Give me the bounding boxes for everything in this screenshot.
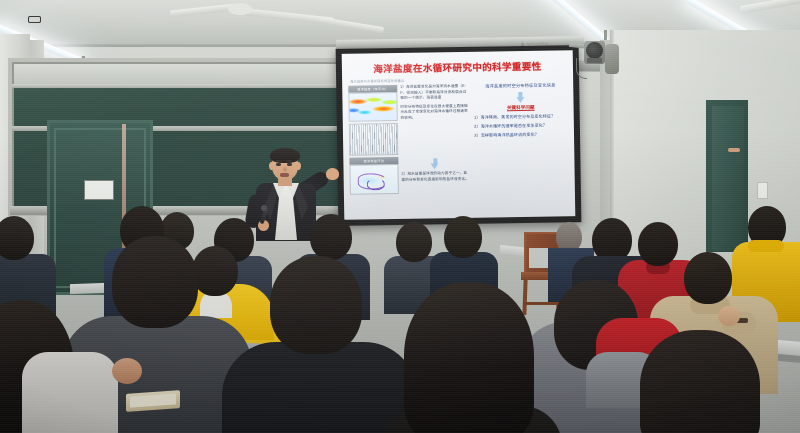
microphone-head-icon bbox=[261, 205, 267, 211]
camera-lens-icon bbox=[586, 42, 603, 59]
time-series-figure bbox=[349, 123, 398, 156]
grey-sleeve bbox=[22, 352, 118, 433]
key-questions-heading: 关键科学问题 bbox=[474, 104, 568, 111]
person-head bbox=[192, 246, 238, 296]
key-question-item: 2）海洋水循环的速率是否在发生变化？ bbox=[474, 122, 568, 130]
person-head bbox=[112, 236, 198, 328]
slide-text-block-two: 2）海水盐度是洋流的动力因子之一，盐度的分布和变化直接影响热盐环流变化。 bbox=[401, 156, 469, 196]
presenter-eye bbox=[287, 163, 292, 166]
arrow-down-icon bbox=[516, 92, 525, 103]
slide-title: 海洋盐度在水循环研究中的科学重要性 bbox=[348, 58, 567, 75]
person-head bbox=[638, 222, 678, 266]
presenter-ear bbox=[269, 162, 274, 170]
down-arrow-wrapper bbox=[474, 91, 568, 103]
door-recess bbox=[712, 106, 744, 250]
key-question-item: 3）怎样影响海洋热盐环流的变化？ bbox=[474, 131, 568, 139]
presenter-eyebrow bbox=[286, 160, 292, 162]
person-head bbox=[270, 256, 362, 354]
person-head bbox=[0, 216, 34, 260]
thermohaline-map-figure bbox=[349, 164, 398, 195]
door-handle[interactable] bbox=[728, 148, 740, 152]
person-hand bbox=[718, 306, 740, 326]
scarf bbox=[748, 240, 784, 252]
key-question-item: 1）海洋降雨、蒸发的时空分布及变化特征？ bbox=[474, 113, 568, 121]
light-switch[interactable] bbox=[757, 182, 768, 199]
presenter-eye bbox=[276, 163, 281, 166]
slide-paragraph: 2）海水盐度是洋流的动力因子之一，盐度的分布和变化直接影响热盐环流变化。 bbox=[401, 171, 469, 183]
figure-block-one: 海洋盐度（年平均） bbox=[348, 85, 398, 158]
classroom-photo: MITSUBISHI 海洋盐度在水循环研究中的科学重要性 海水盐度与水循环研究的… bbox=[0, 0, 800, 433]
person-head bbox=[444, 216, 482, 258]
camera-label bbox=[587, 58, 602, 63]
door-sign bbox=[84, 180, 114, 200]
presenter-nose bbox=[283, 167, 287, 172]
slide-row-two: 海洋热盐环流 2）海水盐度是洋流的动力因子之一，盐度的分布和变化直接影响热盐环流… bbox=[349, 156, 469, 197]
salinity-map-figure bbox=[348, 92, 397, 122]
glasses-icon bbox=[28, 16, 41, 23]
slide-row-one: 海洋盐度（年平均） 1）海洋盐度变化是对海洋流水通量（E-P、径流输入）平衡和海… bbox=[348, 84, 468, 158]
slide-right-column: 海洋盐度的时空分布特征及变化信息 关键科学问题 1）海洋降雨、蒸发的时空分布及变… bbox=[471, 82, 569, 215]
person-head bbox=[396, 222, 432, 262]
ceiling-fan-hub bbox=[228, 3, 252, 15]
presenter-mouth bbox=[280, 173, 289, 177]
presentation-slide: 海洋盐度在水循环研究中的科学重要性 海水盐度与水循环研究的变化和意义 海洋盐度（… bbox=[342, 50, 576, 220]
projection-screen: 海洋盐度在水循环研究中的科学重要性 海水盐度与水循环研究的变化和意义 海洋盐度（… bbox=[342, 50, 576, 220]
person-long-hair bbox=[404, 282, 534, 433]
down-arrow-wrapper bbox=[401, 158, 469, 170]
slide-left-column: 海洋盐度（年平均） 1）海洋盐度变化是对海洋流水通量（E-P、径流输入）平衡和海… bbox=[348, 84, 469, 218]
figure-block-two: 海洋热盐环流 bbox=[349, 157, 398, 197]
wall-speaker bbox=[605, 44, 619, 74]
person-hand bbox=[112, 358, 142, 384]
slide-right-header: 海洋盐度的时空分布特征及变化信息 bbox=[473, 82, 567, 90]
person-head bbox=[684, 252, 732, 304]
slide-paragraph: 1）海洋盐度变化是对海洋流水通量（E-P、径流输入）平衡和海洋对流和混合过程的一… bbox=[400, 84, 468, 102]
blackboard-upper-panel bbox=[14, 64, 352, 84]
arrow-down-icon bbox=[430, 158, 439, 169]
presenter-eyebrow bbox=[275, 160, 281, 162]
slide-paragraph: 时空分布特征及变化在很大程度上直接指示反应了全球变化对海洋水循环过程速率的影响。 bbox=[400, 104, 468, 122]
presenter-ear bbox=[296, 162, 301, 170]
person-head bbox=[310, 214, 352, 260]
chair-rung bbox=[523, 302, 561, 305]
current-path-icon bbox=[367, 179, 385, 191]
blackboard-rail bbox=[12, 84, 354, 88]
person-long-hair bbox=[640, 330, 760, 433]
slide-text-block-one: 1）海洋盐度变化是对海洋流水通量（E-P、径流输入）平衡和海洋对流和混合过程的一… bbox=[400, 84, 469, 157]
slide-body: 海洋盐度（年平均） 1）海洋盐度变化是对海洋流水通量（E-P、径流输入）平衡和海… bbox=[348, 82, 569, 217]
presenter-raised-hand bbox=[326, 168, 339, 180]
person-body bbox=[222, 342, 418, 433]
